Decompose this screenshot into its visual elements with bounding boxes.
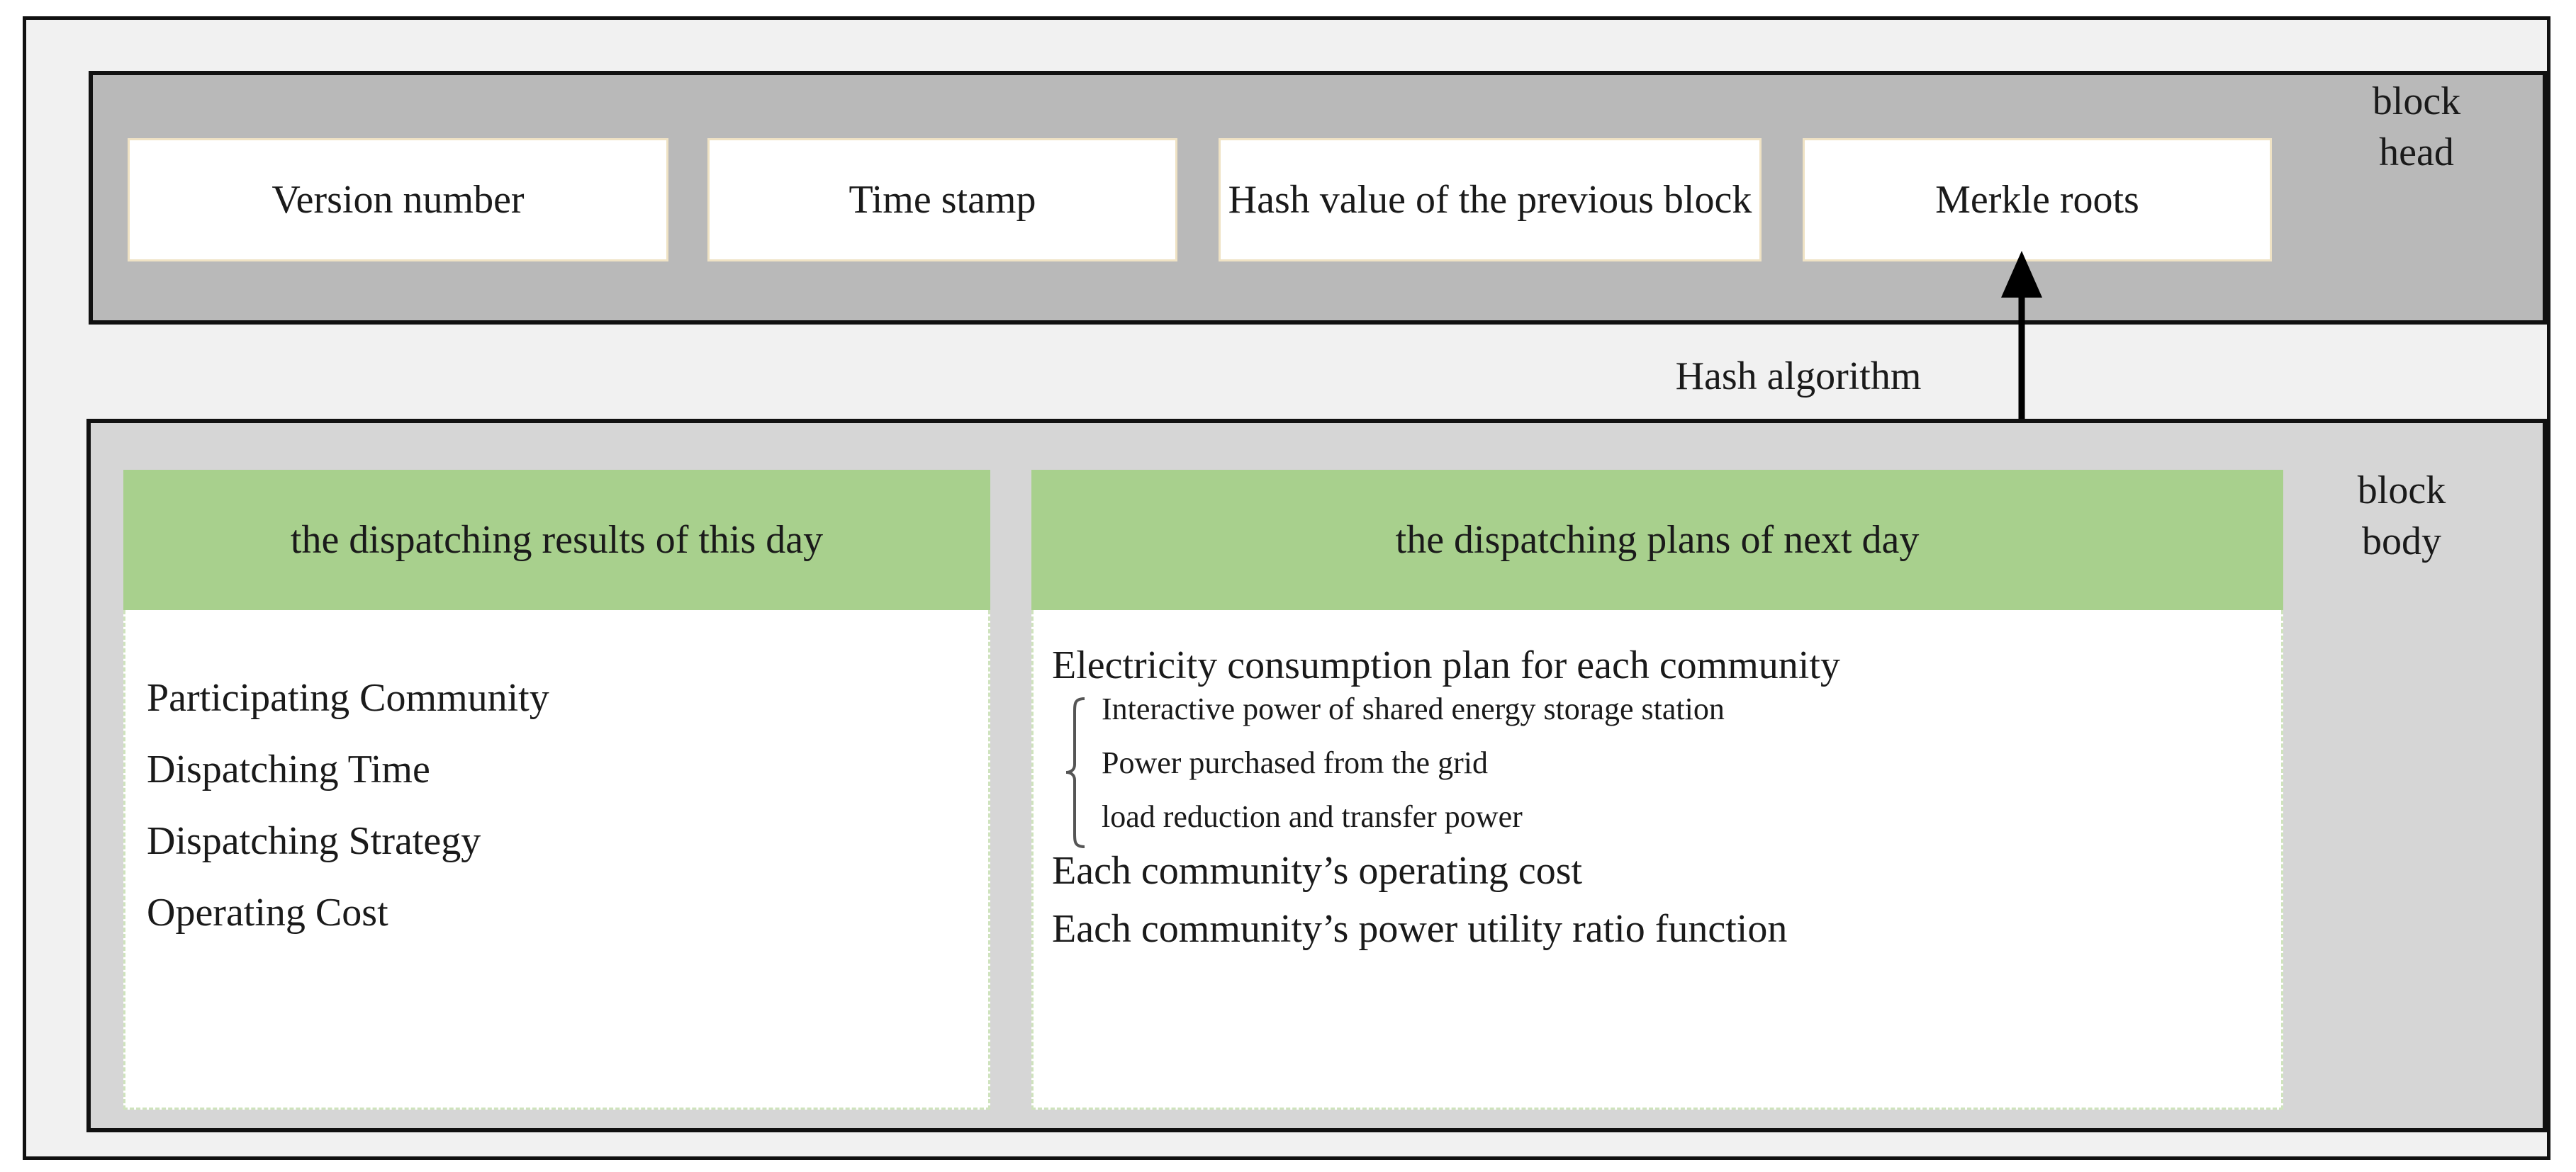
column-header-label: the dispatching results of this day: [291, 517, 823, 563]
list-item-operating-cost: Each community’s operating cost: [1052, 851, 2281, 891]
column-header-label: the dispatching plans of next day: [1396, 517, 1920, 563]
block-body-label-line-2: body: [2295, 517, 2508, 568]
left-curly-brace-icon: [1063, 697, 1087, 849]
column-dispatching-plans: the dispatching plans of next day Electr…: [1031, 470, 2283, 1110]
column-header-this-day: the dispatching results of this day: [123, 470, 990, 610]
column-dispatching-results: the dispatching results of this day Part…: [123, 470, 990, 1110]
sub-list-item: Power purchased from the grid: [1102, 748, 2281, 779]
diagram-canvas: Version number Time stamp Hash value of …: [0, 0, 2576, 1172]
list-item-electricity-consumption-plan: Electricity consumption plan for each co…: [1052, 646, 2281, 685]
block-head-field-version-number: Version number: [128, 138, 668, 261]
block-head-field-merkle-roots: Merkle roots: [1803, 138, 2272, 261]
block-head-label: block head: [2310, 77, 2523, 178]
list-item: Dispatching Time: [147, 750, 988, 789]
field-label: Merkle roots: [1935, 177, 2139, 223]
field-label: Time stamp: [849, 177, 1036, 223]
list-item: Participating Community: [147, 678, 988, 718]
column-header-next-day: the dispatching plans of next day: [1031, 470, 2283, 610]
sub-item-group: Interactive power of shared energy stora…: [1063, 694, 2281, 833]
field-label: Version number: [271, 177, 524, 223]
list-item: Operating Cost: [147, 893, 988, 932]
sub-list-item: Interactive power of shared energy stora…: [1102, 694, 2281, 725]
sub-list-item: load reduction and transfer power: [1102, 801, 2281, 833]
block-head-field-previous-hash: Hash value of the previous block: [1219, 138, 1762, 261]
column-body-next-day: Electricity consumption plan for each co…: [1031, 610, 2283, 1110]
hash-algorithm-caption: Hash algorithm: [1550, 344, 2046, 408]
hash-arrow-up-icon: [1990, 247, 2054, 431]
hash-algorithm-label: Hash algorithm: [1676, 354, 1922, 399]
list-item: Dispatching Strategy: [147, 821, 988, 861]
block-body-label: block body: [2295, 466, 2508, 567]
outer-frame: Version number Time stamp Hash value of …: [23, 16, 2550, 1160]
block-head-field-time-stamp: Time stamp: [707, 138, 1177, 261]
block-head-label-line-2: head: [2310, 128, 2523, 179]
block-head-label-line-1: block: [2310, 77, 2523, 128]
block-body-panel: block body the dispatching results of th…: [86, 419, 2547, 1132]
field-label: Hash value of the previous block: [1228, 177, 1752, 223]
list-item-power-utility-ratio: Each community’s power utility ratio fun…: [1052, 909, 2281, 949]
block-body-label-line-1: block: [2295, 466, 2508, 517]
block-head-panel: Version number Time stamp Hash value of …: [89, 71, 2547, 325]
column-body-this-day: Participating Community Dispatching Time…: [123, 610, 990, 1110]
